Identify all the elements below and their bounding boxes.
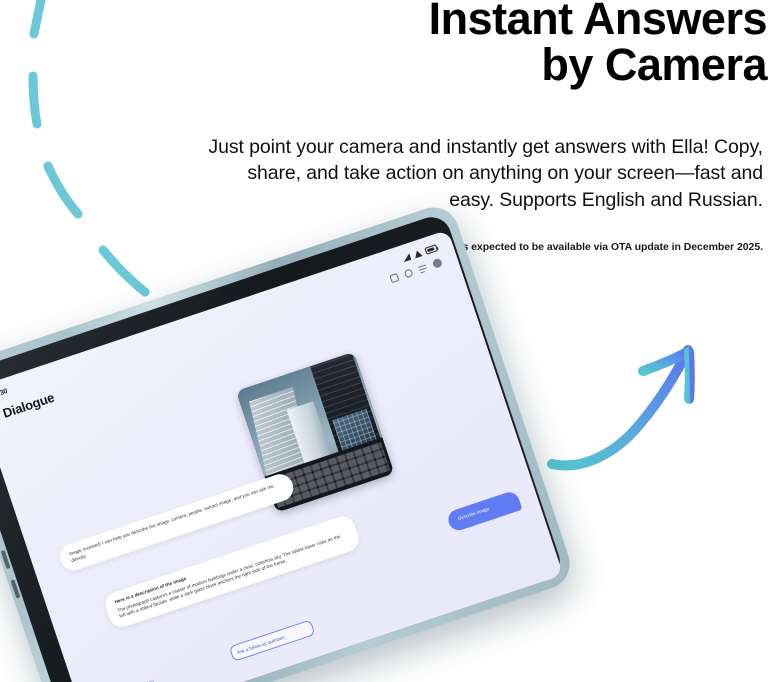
chat-bubble-user: Describe image (446, 490, 523, 533)
wifi-icon (413, 249, 423, 258)
new-chat-icon[interactable] (389, 273, 399, 283)
chat-bubble-text: The photograph captures a cluster of mod… (117, 534, 341, 619)
page-subcopy: Just point your camera and instantly get… (203, 134, 763, 213)
curved-up-arrow (552, 350, 690, 465)
avatar-icon[interactable] (432, 258, 443, 269)
followup-input[interactable]: Ask a follow-up question (229, 619, 316, 661)
tablet-bezel: 14:30 Dialogue (0, 212, 565, 682)
menu-icon[interactable] (418, 263, 428, 273)
poster-canvas: Instant Answers by Camera Just point you… (0, 0, 775, 682)
tablet-screen[interactable]: 14:30 Dialogue (0, 230, 563, 682)
signal-icon (402, 253, 412, 262)
history-icon[interactable] (403, 268, 413, 278)
status-bar: 14:30 (0, 241, 439, 402)
quick-actions[interactable]: Translate Copy (116, 677, 155, 682)
tablet-device: DIGITAL PENCIL 14:30 Dialogue (0, 194, 602, 682)
quick-action-copy[interactable]: Copy (142, 677, 155, 682)
tablet-chassis: DIGITAL PENCIL 14:30 Dialogue (0, 201, 577, 682)
battery-icon (424, 244, 437, 254)
page-title: Instant Answers by Camera (207, 0, 767, 88)
status-bar-clock: 14:30 (0, 388, 8, 400)
